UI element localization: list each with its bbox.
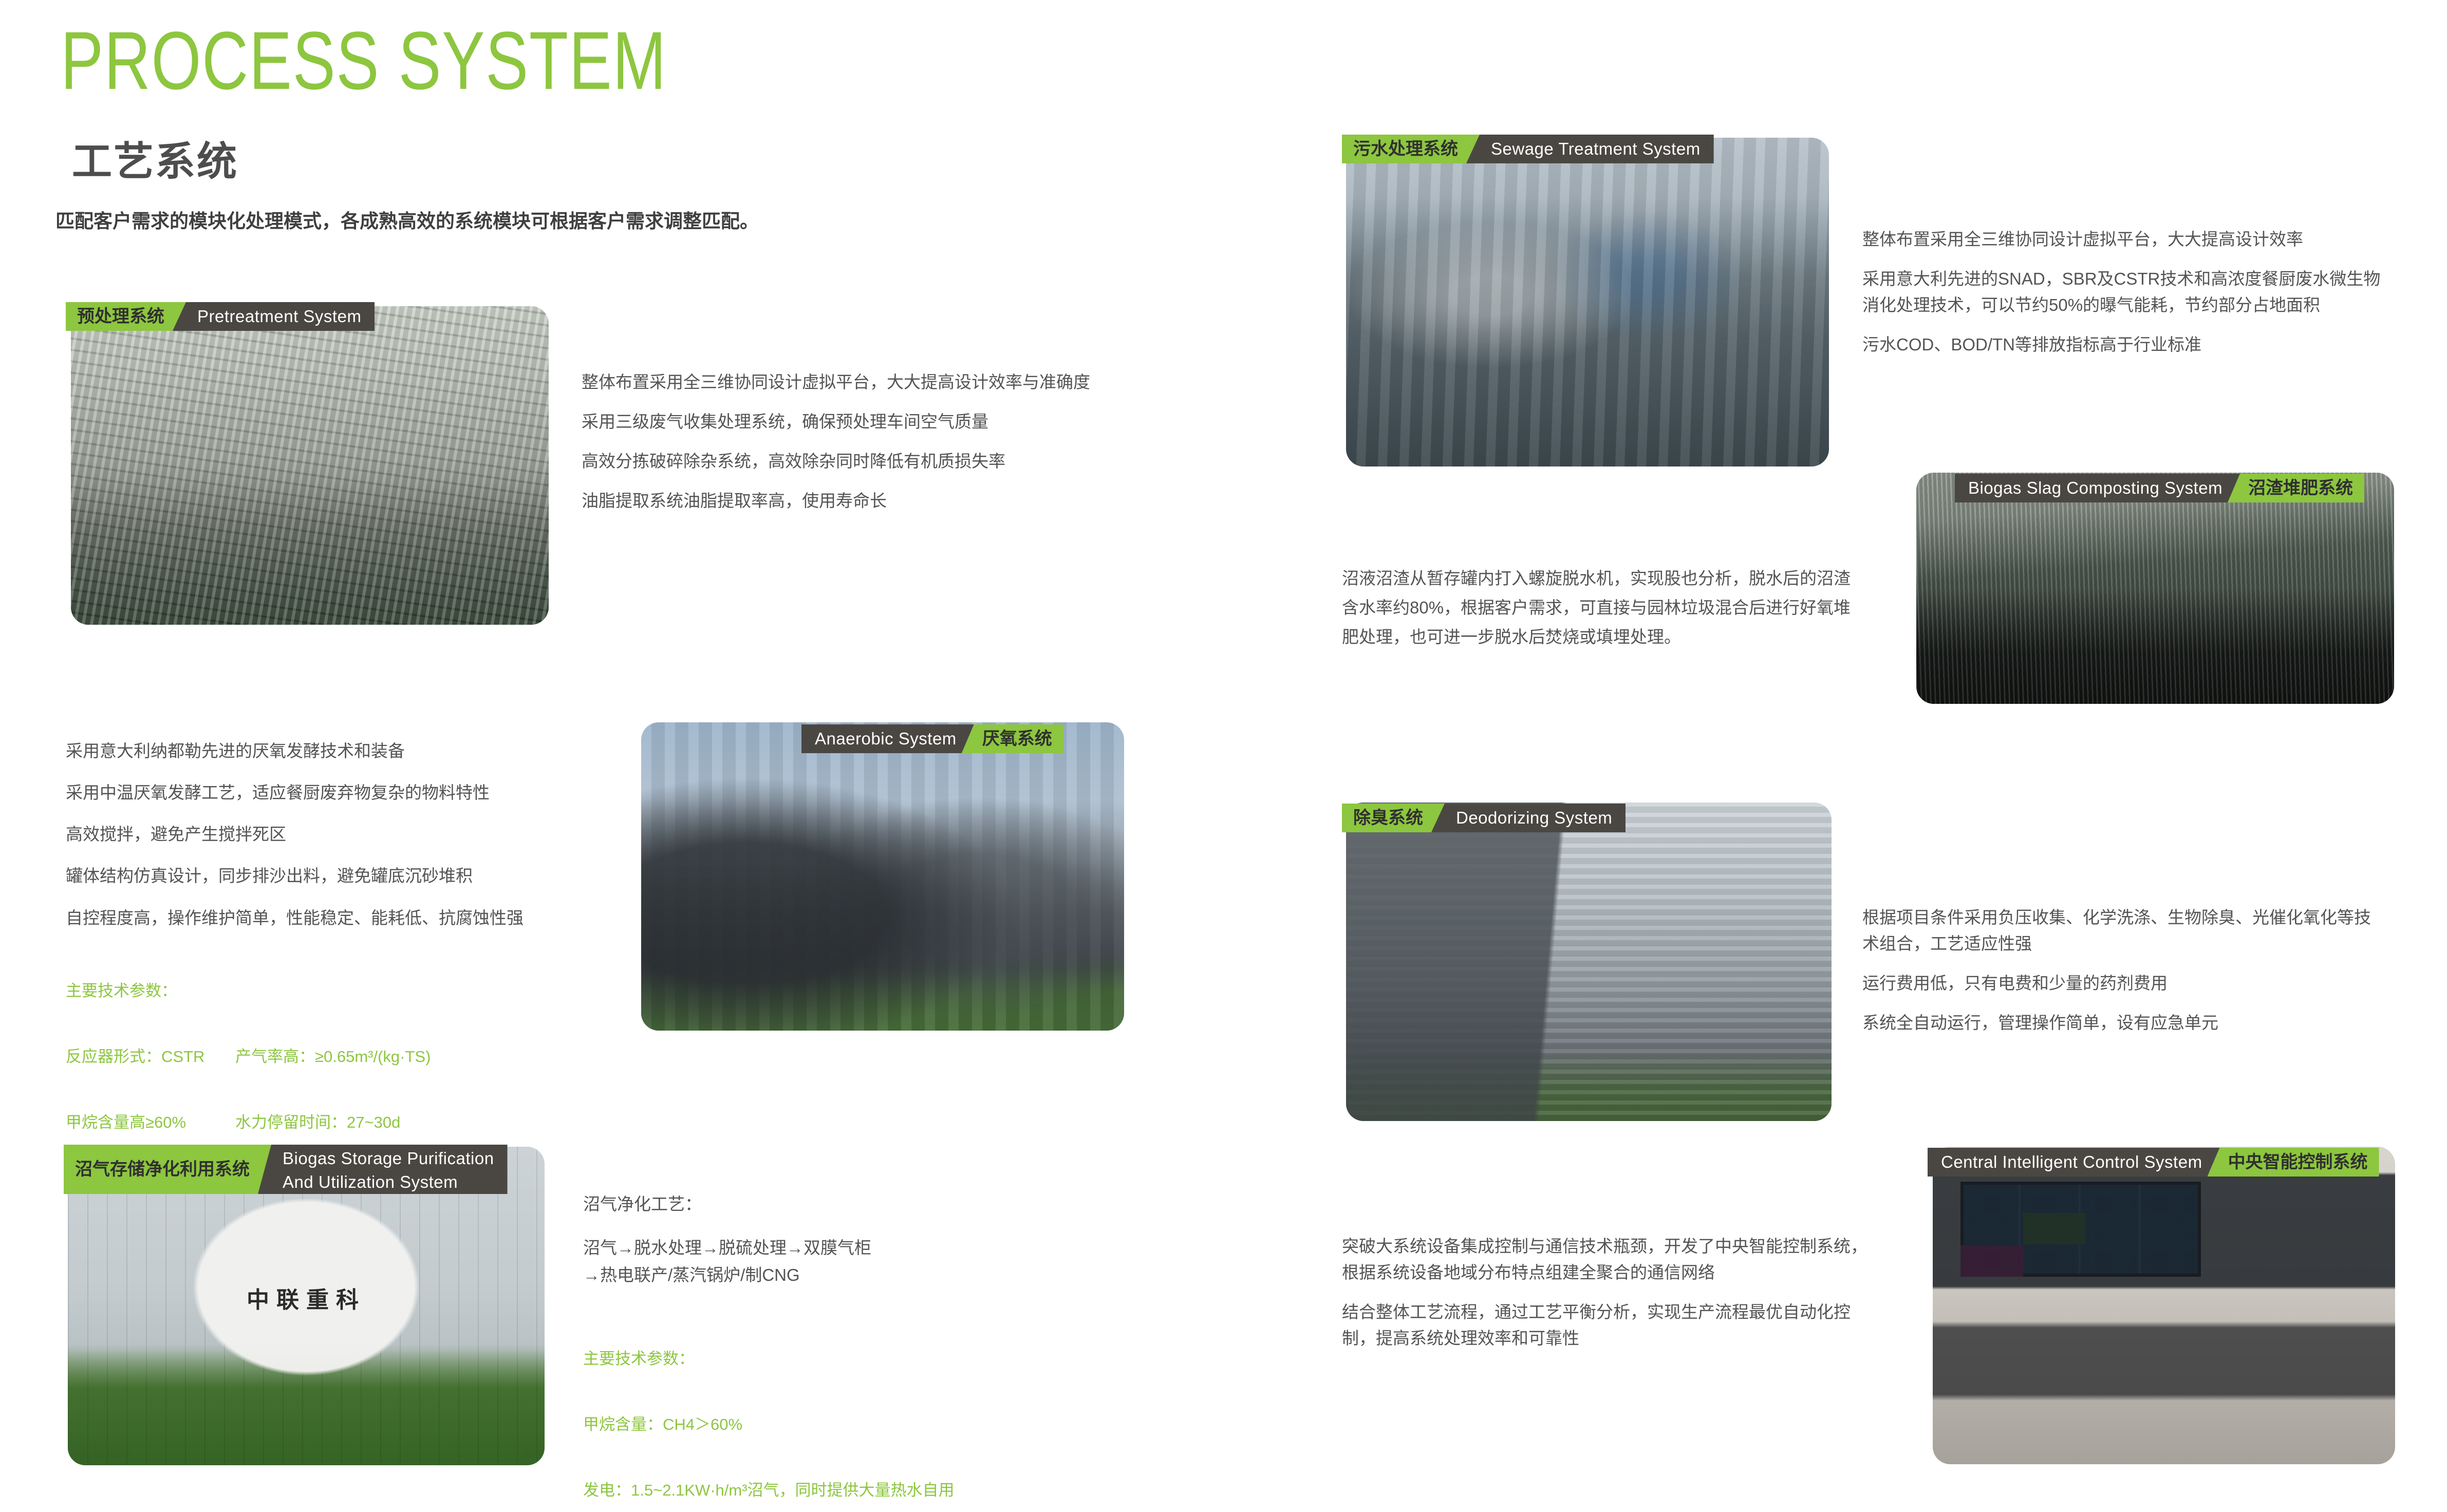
pretreatment-label-cn: 预处理系统 bbox=[66, 302, 186, 331]
pretreatment-text: 整体布置采用全三维协同设计虚拟平台，大大提高设计效率与准确度 采用三级废气收集处… bbox=[582, 369, 1136, 514]
composting-photo-card bbox=[1916, 473, 2394, 704]
pretreatment-para-3: 高效分拣破碎除杂系统，高效除杂同时降低有机质损失率 bbox=[582, 448, 1136, 474]
sewage-photo bbox=[1346, 138, 1829, 466]
sewage-text: 整体布置采用全三维协同设计虚拟平台，大大提高设计效率 采用意大利先进的SNAD，… bbox=[1862, 226, 2386, 358]
anaerobic-specs-title: 主要技术参数： bbox=[66, 980, 580, 1002]
biogas-dome-text: 中联重科 bbox=[68, 1281, 545, 1314]
anaerobic-para-3: 高效搅拌，避免产生搅拌死区 bbox=[66, 821, 626, 847]
deodorizing-photo-card bbox=[1346, 802, 1832, 1121]
sewage-label-badge: 污水处理系统 Sewage Treatment System bbox=[1342, 135, 1714, 163]
central-control-label-badge: Central Intelligent Control System 中央智能控… bbox=[1928, 1148, 2379, 1177]
biogas-storage-label-en: Biogas Storage Purification And Utilizat… bbox=[258, 1145, 508, 1194]
sewage-para-2: 采用意大利先进的SNAD，SBR及CSTR技术和高浓度餐厨废水微生物消化处理技术… bbox=[1862, 266, 2386, 318]
central-control-photo-card bbox=[1933, 1147, 2395, 1464]
central-control-photo bbox=[1933, 1147, 2395, 1464]
anaerobic-label-cn: 厌氧系统 bbox=[962, 724, 1063, 753]
central-control-label-en: Central Intelligent Control System bbox=[1928, 1148, 2220, 1177]
sewage-photo-card bbox=[1346, 138, 1829, 466]
pretreatment-para-4: 油脂提取系统油脂提取率高，使用寿命长 bbox=[582, 488, 1136, 514]
deodorizing-para-3: 系统全自动运行，管理操作简单，设有应急单元 bbox=[1862, 1010, 2381, 1036]
page-title-en: PROCESS SYSTEM bbox=[61, 20, 667, 102]
composting-label-badge: Biogas Slag Composting System 沼渣堆肥系统 bbox=[1955, 474, 2364, 502]
biogas-storage-label-badge: 沼气存储净化利用系统 Biogas Storage Purification A… bbox=[64, 1145, 508, 1194]
biogas-specs-title: 主要技术参数： bbox=[583, 1348, 1148, 1370]
anaerobic-spec-hrt: 水力停留时间：27~30d bbox=[235, 1112, 400, 1134]
pretreatment-para-1: 整体布置采用全三维协同设计虚拟平台，大大提高设计效率与准确度 bbox=[582, 369, 1136, 395]
sewage-para-3: 污水COD、BOD/TN等排放指标高于行业标准 bbox=[1862, 331, 2386, 358]
central-control-para-2: 结合整体工艺流程，通过工艺平衡分析，实现生产流程最优自动化控制，提高系统处理效率… bbox=[1342, 1299, 1871, 1351]
deodorizing-label-en: Deodorizing System bbox=[1431, 804, 1626, 832]
deodorizing-text: 根据项目条件采用负压收集、化学洗涤、生物除臭、光催化氧化等技术组合，工艺适应性强… bbox=[1862, 904, 2381, 1036]
sewage-label-cn: 污水处理系统 bbox=[1342, 135, 1480, 163]
anaerobic-photo bbox=[641, 722, 1124, 1031]
sewage-para-1: 整体布置采用全三维协同设计虚拟平台，大大提高设计效率 bbox=[1862, 226, 2386, 252]
central-control-text: 突破大系统设备集成控制与通信技术瓶颈，开发了中央智能控制系统，根据系统设备地域分… bbox=[1342, 1233, 1871, 1352]
video-wall bbox=[1960, 1182, 2201, 1277]
composting-text: 沼液沼渣从暂存罐内打入螺旋脱水机，实现股也分析，脱水后的沼渣含水率约80%，根据… bbox=[1342, 564, 1861, 651]
anaerobic-spec-methane: 甲烷含量高≥60% bbox=[66, 1112, 235, 1134]
deodorizing-para-2: 运行费用低，只有电费和少量的药剂费用 bbox=[1862, 970, 2381, 996]
biogas-process-title: 沼气净化工艺： bbox=[583, 1191, 1107, 1217]
anaerobic-text: 采用意大利纳都勒先进的厌氧发酵技术和装备 采用中温厌氧发酵工艺，适应餐厨废弃物复… bbox=[66, 738, 626, 946]
pretreatment-para-2: 采用三级废气收集处理系统，确保预处理车间空气质量 bbox=[582, 408, 1136, 435]
anaerobic-specs-row: 反应器形式：CSTR 产气率高：≥0.65m³/(kg·TS) bbox=[66, 1046, 580, 1068]
anaerobic-photo-card bbox=[641, 722, 1124, 1031]
biogas-storage-specs: 主要技术参数： 甲烷含量：CH4＞60% 发电：1.5~2.1KW·h/m³沼气… bbox=[583, 1304, 1148, 1512]
biogas-storage-photo-card: 中联重科 bbox=[68, 1147, 545, 1465]
biogas-storage-label-cn: 沼气存储净化利用系统 bbox=[64, 1145, 271, 1194]
anaerobic-spec-reactor-type: 反应器形式：CSTR bbox=[66, 1046, 235, 1068]
pretreatment-photo bbox=[71, 306, 549, 625]
anaerobic-para-5: 自控程度高，操作维护简单，性能稳定、能耗低、抗腐蚀性强 bbox=[66, 905, 626, 931]
page-title-cn: 工艺系统 bbox=[72, 129, 238, 187]
anaerobic-label-badge: Anaerobic System 厌氧系统 bbox=[801, 724, 1063, 753]
biogas-storage-label-en-line1: Biogas Storage Purification bbox=[283, 1147, 494, 1170]
page-subtitle: 匹配客户需求的模块化处理模式，各成熟高效的系统模块可根据客户需求调整匹配。 bbox=[55, 206, 759, 233]
biogas-storage-label-en-line2: And Utilization System bbox=[283, 1170, 494, 1194]
anaerobic-para-4: 罐体结构仿真设计，同步排沙出料，避免罐底沉砂堆积 bbox=[66, 863, 626, 889]
biogas-process-flow-2: →热电联产/蒸汽锅炉/制CNG bbox=[583, 1262, 1107, 1288]
anaerobic-para-2: 采用中温厌氧发酵工艺，适应餐厨废弃物复杂的物料特性 bbox=[66, 779, 626, 806]
deodorizing-label-cn: 除臭系统 bbox=[1342, 804, 1445, 832]
anaerobic-para-1: 采用意大利纳都勒先进的厌氧发酵技术和装备 bbox=[66, 738, 626, 764]
composting-para-1: 沼液沼渣从暂存罐内打入螺旋脱水机，实现股也分析，脱水后的沼渣含水率约80%，根据… bbox=[1342, 564, 1861, 651]
sewage-label-en: Sewage Treatment System bbox=[1466, 135, 1714, 163]
deodorizing-para-1: 根据项目条件采用负压收集、化学洗涤、生物除臭、光催化氧化等技术组合，工艺适应性强 bbox=[1862, 904, 2381, 957]
biogas-process-flow-1: 沼气→脱水处理→脱硫处理→双膜气柜 bbox=[583, 1235, 1107, 1261]
central-control-para-1: 突破大系统设备集成控制与通信技术瓶颈，开发了中央智能控制系统，根据系统设备地域分… bbox=[1342, 1233, 1871, 1285]
anaerobic-label-en: Anaerobic System bbox=[801, 724, 974, 753]
biogas-spec-methane: 甲烷含量：CH4＞60% bbox=[583, 1414, 1148, 1436]
biogas-storage-process: 沼气净化工艺： 沼气→脱水处理→脱硫处理→双膜气柜 →热电联产/蒸汽锅炉/制CN… bbox=[583, 1191, 1107, 1288]
anaerobic-spec-gas-yield: 产气率高：≥0.65m³/(kg·TS) bbox=[235, 1046, 431, 1068]
pretreatment-label-en: Pretreatment System bbox=[173, 302, 375, 331]
anaerobic-specs-row: 甲烷含量高≥60% 水力停留时间：27~30d bbox=[66, 1112, 580, 1134]
deodorizing-photo bbox=[1346, 802, 1832, 1121]
pretreatment-photo-card bbox=[71, 306, 549, 625]
composting-photo bbox=[1916, 473, 2394, 704]
composting-label-cn: 沼渣堆肥系统 bbox=[2228, 474, 2364, 502]
composting-label-en: Biogas Slag Composting System bbox=[1955, 474, 2240, 502]
biogas-spec-power: 发电：1.5~2.1KW·h/m³沼气，同时提供大量热水自用 bbox=[583, 1480, 1148, 1502]
central-control-label-cn: 中央智能控制系统 bbox=[2208, 1148, 2379, 1177]
process-system-page: PROCESS SYSTEM 工艺系统 匹配客户需求的模块化处理模式，各成熟高效… bbox=[0, 0, 2447, 1512]
deodorizing-label-badge: 除臭系统 Deodorizing System bbox=[1342, 804, 1626, 832]
pretreatment-label-badge: 预处理系统 Pretreatment System bbox=[66, 302, 375, 331]
